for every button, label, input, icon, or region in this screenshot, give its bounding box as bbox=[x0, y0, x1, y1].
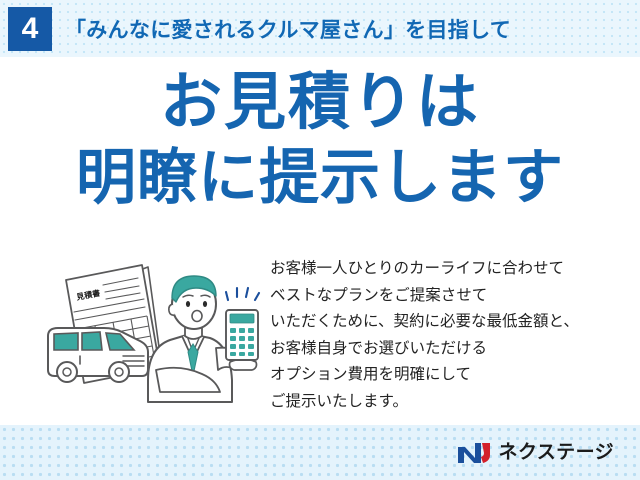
calculator-icon bbox=[226, 310, 258, 360]
promo-slide: 4 「みんなに愛されるクルマ屋さん」を目指して お見積りは 明瞭に提示します お… bbox=[0, 0, 640, 480]
body-copy-line: いただくために、契約に必要な最低金額と、 bbox=[270, 309, 630, 336]
body-copy-line: お客様一人ひとりのカーライフに合わせて bbox=[270, 256, 630, 283]
header-step-badge: 4 bbox=[8, 7, 52, 51]
header-title: 「みんなに愛されるクルマ屋さん」を目指して bbox=[65, 14, 511, 44]
illustration-svg: 見積書 bbox=[30, 252, 278, 424]
sparkle-icon bbox=[226, 288, 259, 300]
body-copy-line: ベストなプランをご提案させて bbox=[270, 283, 630, 310]
brand-logo: ネクステージ bbox=[457, 442, 614, 464]
body-copy-line: ご提示いたします。 bbox=[270, 389, 630, 416]
headline-line-2: 明瞭に提示します bbox=[0, 148, 640, 208]
headline: お見積りは 明瞭に提示します bbox=[0, 72, 640, 208]
nextage-n-logo-icon bbox=[457, 442, 491, 464]
header-bar: 4 「みんなに愛されるクルマ屋さん」を目指して bbox=[0, 0, 640, 57]
body-copy: お客様一人ひとりのカーライフに合わせて ベストなプランをご提案させて いただくた… bbox=[270, 256, 630, 415]
body-copy-line: オプション費用を明確にして bbox=[270, 362, 630, 389]
headline-line-1: お見積りは bbox=[0, 72, 640, 134]
brand-name: ネクステージ bbox=[499, 443, 614, 462]
body-copy-line: お客様自身でお選びいただける bbox=[270, 336, 630, 363]
footer-bar: ネクステージ bbox=[0, 425, 640, 480]
illustration: 見積書 bbox=[30, 252, 278, 424]
